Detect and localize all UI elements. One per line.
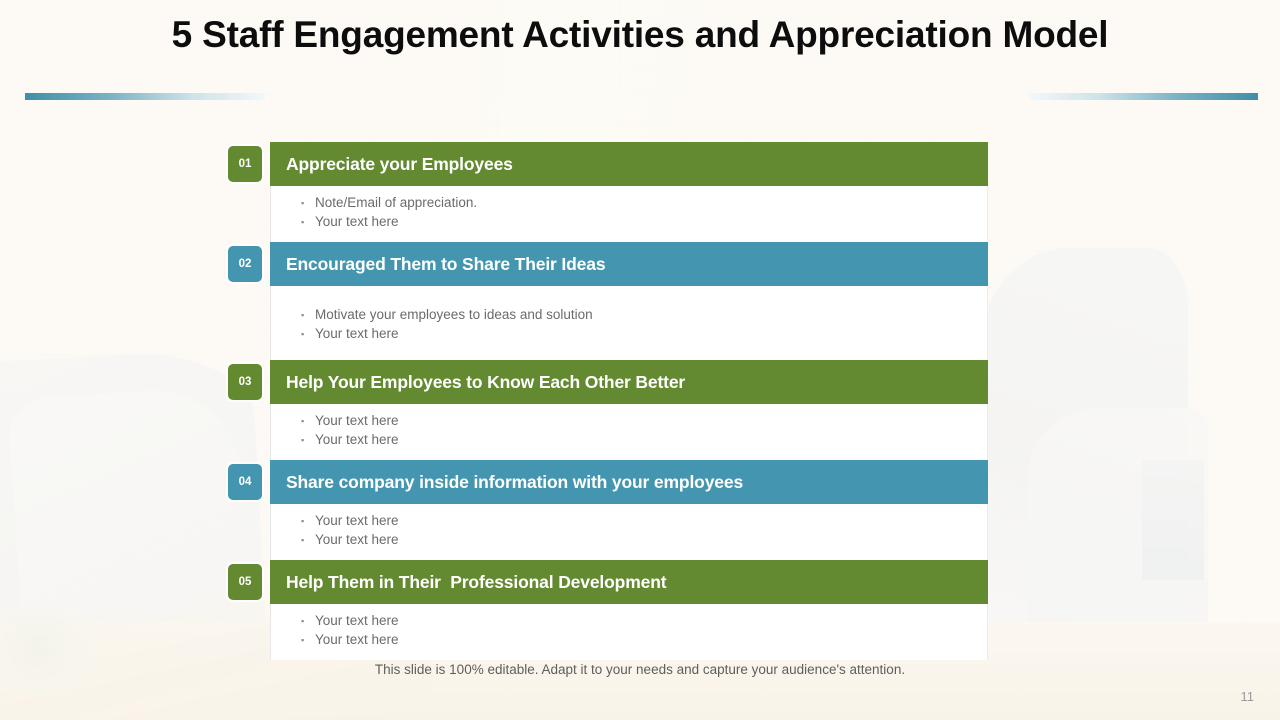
list-item: ▪Your text here [301, 612, 987, 630]
page-number: 11 [1241, 689, 1255, 704]
list-item: ▪Motivate your employees to ideas and so… [301, 306, 987, 324]
list-item: ▪Note/Email of appreciation. [301, 194, 987, 212]
background-chair-left-inner-icon [7, 384, 256, 679]
page-title: 5 Staff Engagement Activities and Apprec… [0, 14, 1280, 56]
activity-title: Help Your Employees to Know Each Other B… [286, 372, 685, 393]
bullet-text: Note/Email of appreciation. [315, 194, 477, 212]
activity-header[interactable]: Appreciate your Employees [270, 142, 988, 186]
engagement-activity-list: 01Appreciate your Employees▪Note/Email o… [228, 142, 988, 660]
bullet-text: Your text here [315, 531, 399, 549]
list-item: ▪Your text here [301, 531, 987, 549]
bullet-square-icon: ▪ [301, 631, 315, 649]
bullet-text: Your text here [315, 631, 399, 649]
slide-canvas: 5 Staff Engagement Activities and Apprec… [0, 0, 1280, 720]
activity-row[interactable]: 03Help Your Employees to Know Each Other… [228, 360, 988, 460]
bullet-text: Your text here [315, 325, 399, 343]
activity-body: ▪Motivate your employees to ideas and so… [270, 286, 988, 360]
activity-body: ▪Your text here▪Your text here [270, 604, 988, 660]
activity-header[interactable]: Encouraged Them to Share Their Ideas [270, 242, 988, 286]
bullet-square-icon: ▪ [301, 512, 315, 530]
bullet-square-icon: ▪ [301, 213, 315, 231]
activity-title: Appreciate your Employees [286, 154, 513, 175]
activity-number-badge: 05 [228, 564, 262, 600]
activity-row[interactable]: 01Appreciate your Employees▪Note/Email o… [228, 142, 988, 242]
bullet-text: Motivate your employees to ideas and sol… [315, 306, 593, 324]
activity-body: ▪Note/Email of appreciation.▪Your text h… [270, 186, 988, 242]
background-chair-right-icon [978, 248, 1188, 628]
bullet-text: Your text here [315, 412, 399, 430]
bullet-square-icon: ▪ [301, 306, 315, 324]
activity-number-badge: 01 [228, 146, 262, 182]
activity-number-badge: 03 [228, 364, 262, 400]
activity-title: Share company inside information with yo… [286, 472, 743, 493]
activity-body: ▪Your text here▪Your text here [270, 404, 988, 460]
list-item: ▪Your text here [301, 412, 987, 430]
background-chair-right-inner-icon [1028, 408, 1208, 638]
activity-row[interactable]: 05Help Them in Their Professional Develo… [228, 560, 988, 660]
accent-rule-right [1030, 93, 1258, 100]
background-monitor-icon [1142, 460, 1204, 580]
activity-number-badge: 04 [228, 464, 262, 500]
activity-title: Encouraged Them to Share Their Ideas [286, 254, 605, 275]
activity-row[interactable]: 02Encouraged Them to Share Their Ideas▪M… [228, 242, 988, 360]
list-item: ▪Your text here [301, 431, 987, 449]
activity-title: Help Them in Their Professional Developm… [286, 572, 666, 593]
bullet-square-icon: ▪ [301, 531, 315, 549]
bullet-square-icon: ▪ [301, 612, 315, 630]
bullet-square-icon: ▪ [301, 412, 315, 430]
footer-note: This slide is 100% editable. Adapt it to… [0, 662, 1280, 677]
activity-header[interactable]: Help Them in Their Professional Developm… [270, 560, 988, 604]
activity-number-badge: 02 [228, 246, 262, 282]
list-item: ▪Your text here [301, 213, 987, 231]
bullet-text: Your text here [315, 431, 399, 449]
bullet-square-icon: ▪ [301, 194, 315, 212]
activity-header[interactable]: Share company inside information with yo… [270, 460, 988, 504]
bullet-square-icon: ▪ [301, 431, 315, 449]
list-item: ▪Your text here [301, 512, 987, 530]
accent-rule-left [25, 93, 265, 100]
activity-body: ▪Your text here▪Your text here [270, 504, 988, 560]
activity-header[interactable]: Help Your Employees to Know Each Other B… [270, 360, 988, 404]
background-plant-icon [0, 608, 110, 698]
list-item: ▪Your text here [301, 325, 987, 343]
bullet-text: Your text here [315, 512, 399, 530]
list-item: ▪Your text here [301, 631, 987, 649]
bullet-text: Your text here [315, 612, 399, 630]
activity-row[interactable]: 04Share company inside information with … [228, 460, 988, 560]
bullet-text: Your text here [315, 213, 399, 231]
bullet-square-icon: ▪ [301, 325, 315, 343]
